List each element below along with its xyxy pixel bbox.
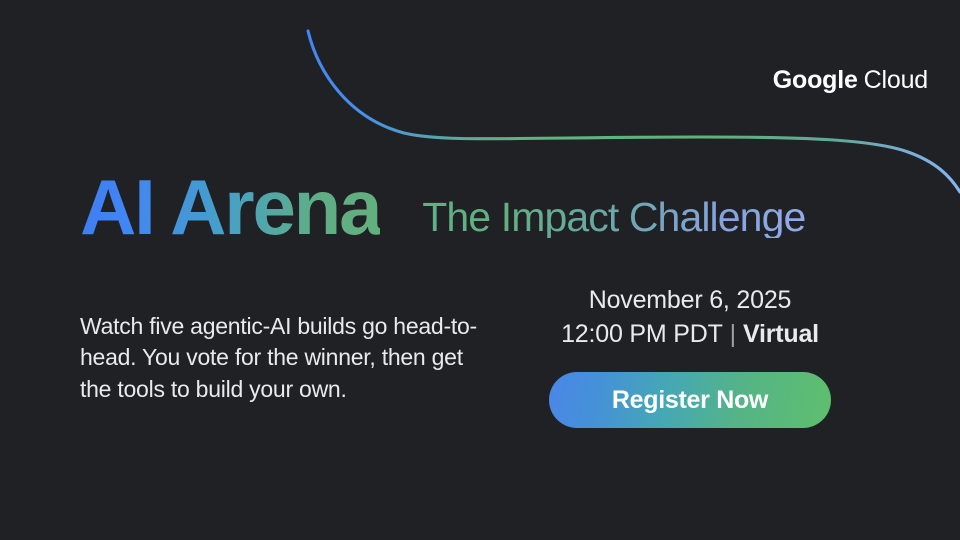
page-subtitle: The Impact Challenge bbox=[422, 197, 805, 238]
page-title: AI Arena bbox=[80, 168, 380, 246]
register-now-button[interactable]: Register Now bbox=[549, 372, 831, 428]
event-format: Virtual bbox=[743, 320, 819, 348]
event-time-format: 12:00 PM PDT|Virtual bbox=[510, 318, 870, 350]
description-text: Watch five agentic-AI builds go head-to-… bbox=[80, 311, 480, 405]
headline: AI Arena The Impact Challenge bbox=[80, 168, 805, 246]
promo-banner: GoogleCloud AI Arena The Impact Challeng… bbox=[0, 0, 960, 540]
google-cloud-logo: GoogleCloud bbox=[773, 68, 928, 93]
brand-cloud: Cloud bbox=[864, 66, 928, 94]
cta-container: Register Now bbox=[510, 372, 870, 428]
meta-separator: | bbox=[730, 320, 736, 348]
event-details: November 6, 2025 12:00 PM PDT|Virtual Re… bbox=[510, 284, 870, 428]
event-date: November 6, 2025 bbox=[510, 284, 870, 316]
event-time: 12:00 PM PDT bbox=[561, 320, 723, 348]
brand-google: Google bbox=[773, 66, 858, 94]
